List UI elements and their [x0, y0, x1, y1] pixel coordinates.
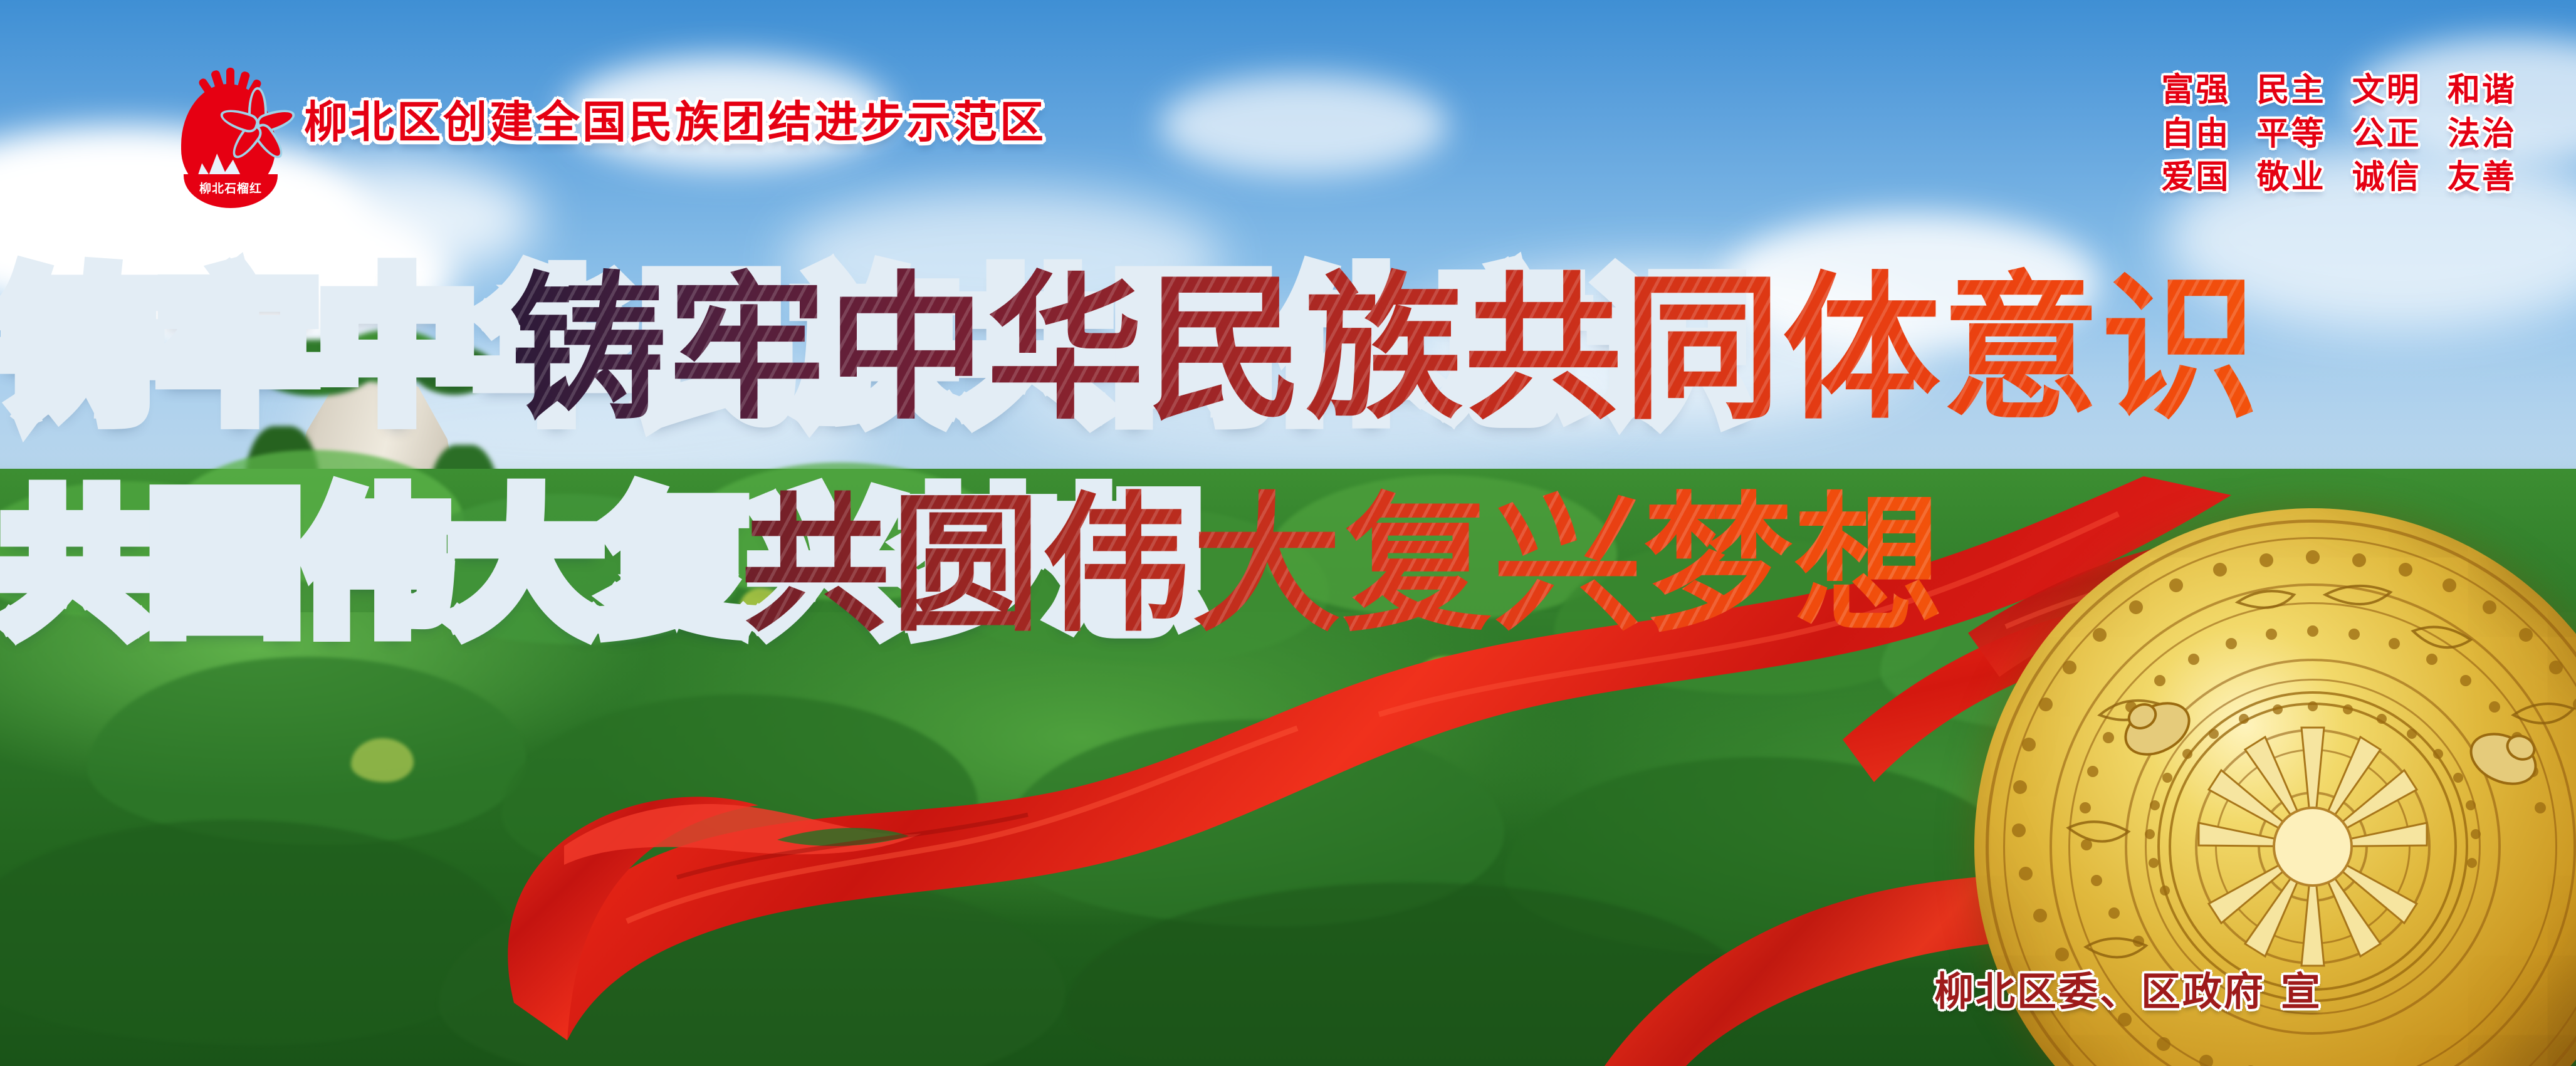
bauhinia-flower-icon — [224, 89, 291, 163]
liubei-pomegranate-red-emblem: 柳北石榴红 — [177, 70, 287, 211]
core-values-row-1: 富强 民主 文明 和谐 — [2161, 69, 2516, 113]
emblem-caption: 柳北石榴红 — [184, 179, 278, 196]
header-slogan: 柳北区创建全国民族团结进步示范区 — [304, 100, 1046, 144]
core-values-row-3: 爱国 敬业 诚信 友善 — [2161, 156, 2516, 200]
main-title-line-2-fill: 共圆伟大复兴梦想 — [741, 479, 1944, 652]
main-title: 铸牢中华民族共同体意识 铸牢中华民族共同体意识 共圆伟大复兴梦想 共圆伟大复兴梦… — [0, 271, 2576, 640]
emblem-caption-ribbon: 柳北石榴红 — [184, 174, 278, 208]
main-title-line-2: 共圆伟大复兴梦想 共圆伟大复兴梦想 — [0, 491, 2576, 640]
main-title-line-1-fill: 铸牢中华民族共同体意识 — [509, 258, 2260, 441]
issuer-signature: 柳北区委、区政府 宣 — [1934, 960, 2322, 1017]
header-slogan-text: 柳北区创建全国民族团结进步示范区 — [304, 100, 1046, 144]
propaganda-banner: 柳北石榴红 柳北区创建全国民族团结进步示范区 富强 民主 文明 和谐 自由 平等… — [0, 0, 2576, 1066]
core-socialist-values: 富强 民主 文明 和谐 自由 平等 公正 法治 爱国 敬业 诚信 友善 — [2161, 69, 2516, 200]
core-values-row-2: 自由 平等 公正 法治 — [2161, 113, 2516, 157]
main-title-line-1: 铸牢中华民族共同体意识 铸牢中华民族共同体意识 — [0, 271, 2576, 429]
